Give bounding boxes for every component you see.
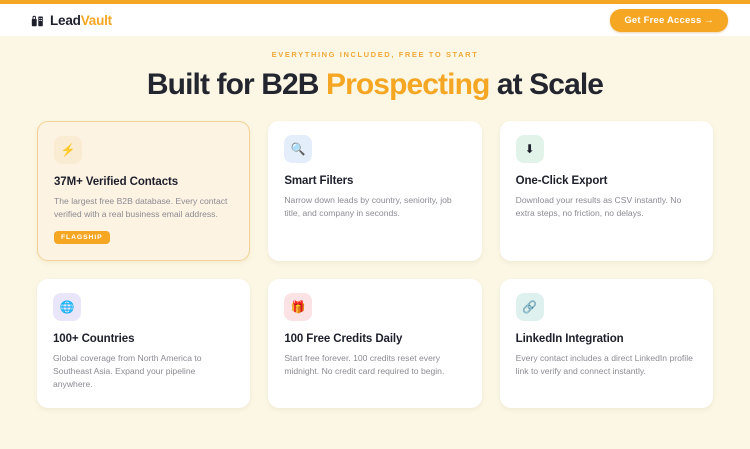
feature-card-title: LinkedIn Integration [516, 333, 697, 345]
brand-logo[interactable]: LeadVault [30, 13, 112, 28]
feature-card-grid: ⚡37M+ Verified ContactsThe largest free … [37, 121, 713, 408]
feature-card-description: Narrow down leads by country, seniority,… [284, 194, 465, 221]
get-free-access-button[interactable]: Get Free Access → [610, 9, 728, 32]
lock-building-icon [30, 13, 44, 27]
brand-name-accent: Vault [81, 13, 112, 28]
feature-card-title: Smart Filters [284, 175, 465, 187]
feature-card-title: One-Click Export [516, 175, 697, 187]
feature-card-free-credits[interactable]: 🎁100 Free Credits DailyStart free foreve… [268, 279, 481, 408]
feature-card-verified-contacts[interactable]: ⚡37M+ Verified ContactsThe largest free … [37, 121, 250, 261]
feature-card-description: Start free forever. 100 credits reset ev… [284, 352, 465, 379]
feature-card-title: 100 Free Credits Daily [284, 333, 465, 345]
site-header: LeadVault Get Free Access → [0, 4, 750, 36]
globe-icon: 🌐 [53, 293, 81, 321]
headline-part-after: at Scale [489, 68, 603, 101]
gift-icon: 🎁 [284, 293, 312, 321]
search-icon: 🔍 [284, 135, 312, 163]
feature-card-title: 37M+ Verified Contacts [54, 176, 233, 188]
feature-card-description: The largest free B2B database. Every con… [54, 195, 233, 222]
lightning-bolt-icon: ⚡ [54, 136, 82, 164]
headline-accent-word: Prospecting [326, 68, 489, 101]
link-chain-icon: 🔗 [516, 293, 544, 321]
hero-section: EVERYTHING INCLUDED, FREE TO START Built… [0, 36, 750, 101]
feature-card-description: Every contact includes a direct LinkedIn… [516, 352, 697, 379]
feature-card-countries[interactable]: 🌐100+ CountriesGlobal coverage from Nort… [37, 279, 250, 408]
brand-name-primary: Lead [50, 13, 81, 28]
feature-card-description: Download your results as CSV instantly. … [516, 194, 697, 221]
feature-card-smart-filters[interactable]: 🔍Smart FiltersNarrow down leads by count… [268, 121, 481, 261]
brand-name: LeadVault [50, 13, 112, 28]
page-title: Built for B2B Prospecting at Scale [0, 68, 750, 101]
status-badge: FLAGSHIP [54, 231, 110, 244]
feature-card-linkedin-integration[interactable]: 🔗LinkedIn IntegrationEvery contact inclu… [500, 279, 713, 408]
headline-part-before: Built for B2B [147, 68, 326, 101]
download-arrow-icon: ⬇ [516, 135, 544, 163]
feature-card-title: 100+ Countries [53, 333, 234, 345]
feature-card-one-click-export[interactable]: ⬇One-Click ExportDownload your results a… [500, 121, 713, 261]
hero-eyebrow: EVERYTHING INCLUDED, FREE TO START [0, 50, 750, 59]
feature-card-description: Global coverage from North America to So… [53, 352, 234, 392]
